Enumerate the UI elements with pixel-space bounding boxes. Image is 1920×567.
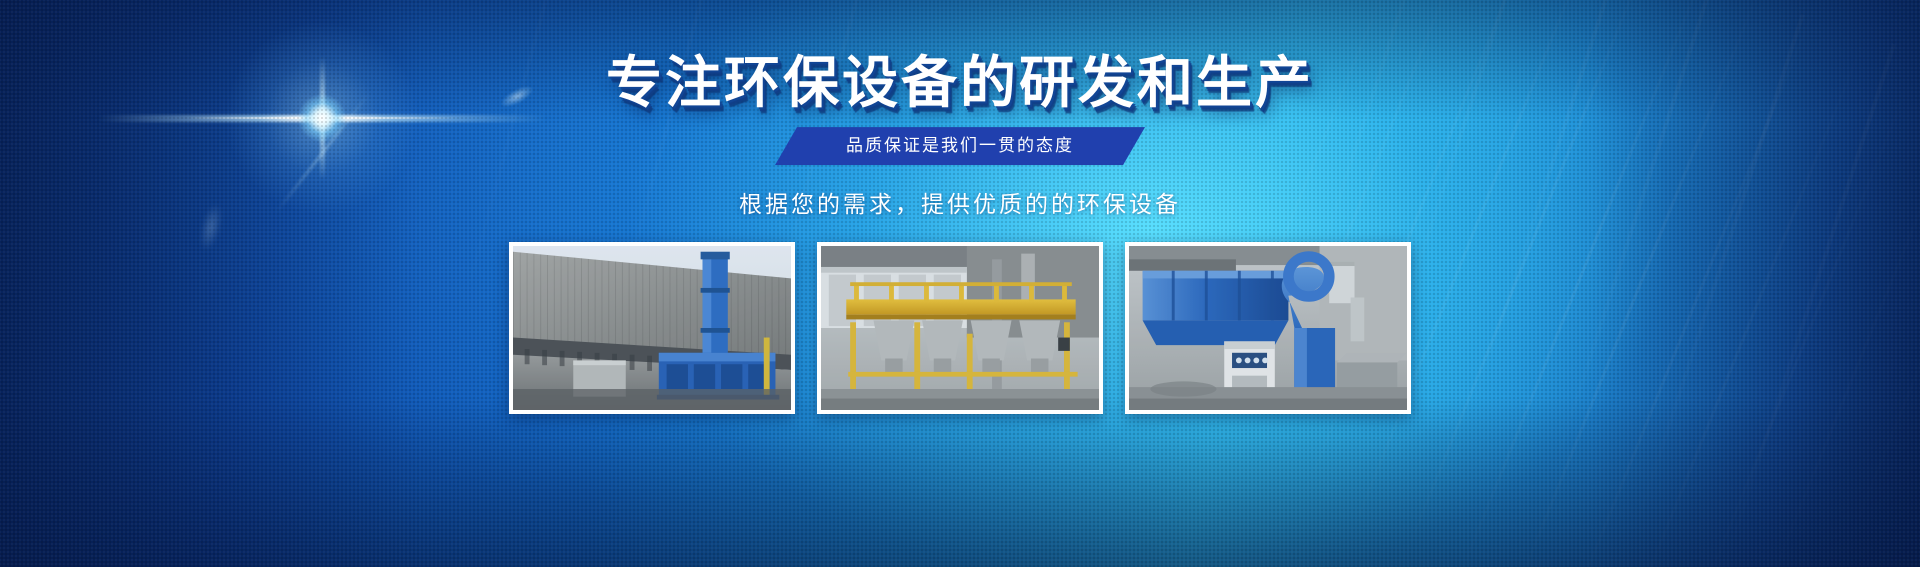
promo-banner: 专注环保设备的研发和生产 品质保证是我们一贯的态度 根据您的需求，提供优质的的环… bbox=[0, 0, 1920, 567]
photo-factory-exterior-dust-collector bbox=[509, 242, 795, 414]
subheadline: 根据您的需求，提供优质的的环保设备 bbox=[0, 185, 1920, 219]
photo-workshop-catalytic-equipment bbox=[817, 242, 1103, 414]
headline: 专注环保设备的研发和生产 bbox=[0, 54, 1920, 111]
photo-gallery bbox=[0, 242, 1920, 414]
photo-cyclone-dust-collector-ducting bbox=[1125, 242, 1411, 414]
bottom-vignette bbox=[0, 397, 1920, 567]
badge-container: 品质保证是我们一贯的态度 bbox=[0, 127, 1920, 165]
quality-badge: 品质保证是我们一贯的态度 bbox=[775, 127, 1145, 165]
banner-content: 专注环保设备的研发和生产 品质保证是我们一贯的态度 根据您的需求，提供优质的的环… bbox=[0, 0, 1920, 219]
